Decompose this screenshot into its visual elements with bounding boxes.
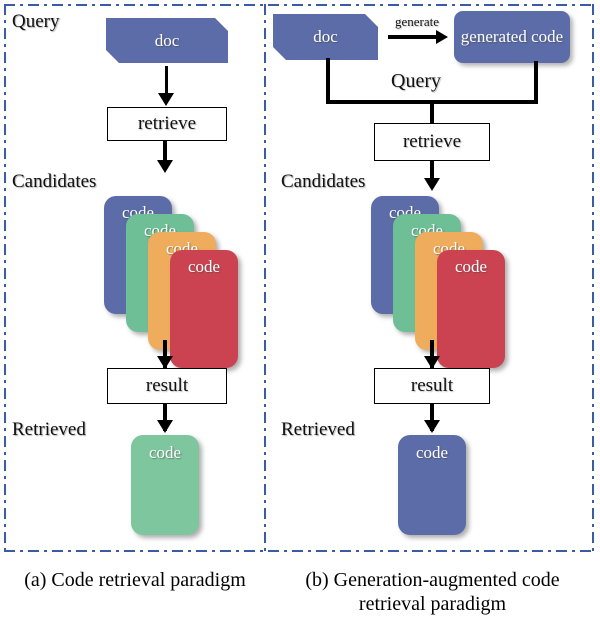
- node-generated-code-b[interactable]: generated code: [454, 11, 570, 63]
- connector-generated-down-b: [534, 61, 538, 104]
- label-retrieved-b: Retrieved: [281, 420, 355, 439]
- retrieved-card-a[interactable]: code: [131, 435, 199, 535]
- arrowhead-doc-to-generated-b: [436, 30, 448, 44]
- retrieved-card-b-text: code: [398, 443, 466, 463]
- label-query-a: Query: [12, 12, 59, 31]
- node-doc-a[interactable]: doc: [106, 18, 228, 63]
- caption-panel-a: (a) Code retrieval paradigm: [10, 568, 260, 592]
- candidate-card-4-b-text: code: [437, 257, 505, 277]
- arrowhead-retrieve-to-candidates-b: [424, 178, 440, 191]
- node-retrieve-b[interactable]: retrieve: [374, 123, 490, 161]
- panel-code-retrieval: Query doc retrieve Candidates code code …: [0, 0, 264, 556]
- connector-query-to-retrieve-b: [430, 100, 434, 124]
- node-retrieve-a[interactable]: retrieve: [107, 107, 227, 141]
- figure-root: Query doc retrieve Candidates code code …: [0, 0, 600, 626]
- connector-doc-down-b: [326, 58, 330, 104]
- node-result-a-text: result: [146, 375, 188, 397]
- retrieved-card-a-text: code: [131, 443, 199, 463]
- node-result-b[interactable]: result: [374, 368, 490, 404]
- candidate-card-4-a-text: code: [170, 257, 238, 277]
- candidate-card-4-a[interactable]: code: [170, 250, 238, 368]
- retrieved-card-b[interactable]: code: [398, 435, 466, 535]
- arrowhead-result-to-retrieved-b: [424, 420, 440, 433]
- arrowhead-result-to-retrieved-a: [157, 420, 173, 433]
- node-doc-b[interactable]: doc: [273, 14, 378, 60]
- panel-generation-augmented-retrieval: doc generate generated code Query retrie…: [264, 0, 600, 556]
- label-candidates-a: Candidates: [12, 172, 96, 191]
- label-retrieved-a: Retrieved: [12, 420, 86, 439]
- candidate-card-4-b[interactable]: code: [437, 250, 505, 368]
- connector-doc-to-generated-b: [388, 35, 438, 39]
- arrowhead-doc-to-retrieve-a: [158, 93, 174, 106]
- node-result-a[interactable]: result: [107, 368, 227, 404]
- node-doc-b-text: doc: [313, 27, 338, 47]
- node-result-b-text: result: [411, 375, 453, 397]
- node-doc-a-text: doc: [155, 31, 180, 51]
- node-retrieve-b-text: retrieve: [403, 131, 461, 153]
- label-query-b: Query: [387, 70, 445, 93]
- label-candidates-b: Candidates: [281, 172, 365, 191]
- node-generated-code-b-text: generated code: [461, 28, 563, 46]
- node-retrieve-a-text: retrieve: [138, 113, 196, 135]
- arrowhead-retrieve-to-candidates-a: [157, 160, 173, 173]
- label-generate-b: generate: [395, 14, 439, 30]
- connector-doc-to-retrieve-a: [165, 66, 168, 95]
- caption-panel-b: (b) Generation-augmented code retrieval …: [270, 568, 595, 617]
